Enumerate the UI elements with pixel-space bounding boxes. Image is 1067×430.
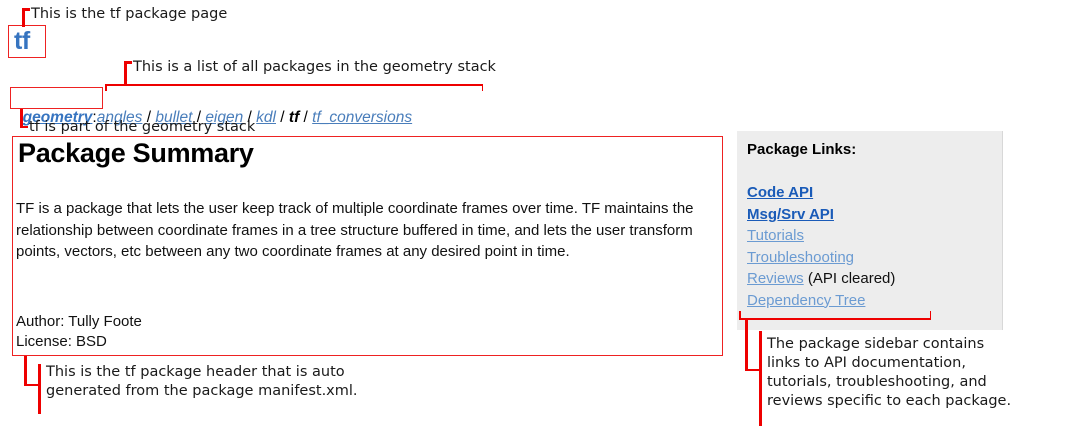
- callout-line-logo-vertical: [22, 8, 25, 27]
- annotation-header-line2: generated from the package manifest.xml.: [46, 382, 358, 401]
- callout-bracket-packages-horizontal: [105, 84, 483, 86]
- annotation-sidebar-line4: reviews specific to each package.: [767, 392, 1011, 411]
- callout-bracket-packages-right-tick: [482, 84, 484, 91]
- callout-line-header-vertical-b: [38, 364, 41, 414]
- sidebar-title: Package Links:: [747, 141, 856, 158]
- annotation-stack: tf is part of the geometry stack: [29, 118, 255, 137]
- annotation-sidebar-line1: The package sidebar contains: [767, 335, 984, 354]
- package-link-tf_conversions[interactable]: tf_conversions: [312, 109, 412, 126]
- callout-line-sidebar-vertical-a: [745, 319, 748, 371]
- sidebar-link-row: Troubleshooting: [747, 247, 895, 269]
- sidebar-link-note: (API cleared): [804, 270, 896, 287]
- callout-bracket-sidebar-horizontal: [739, 318, 931, 320]
- sidebar-link-row: Reviews (API cleared): [747, 268, 895, 290]
- sidebar-link-row: Tutorials: [747, 225, 895, 247]
- sidebar-link-list: Code APIMsg/Srv APITutorialsTroubleshoot…: [747, 182, 895, 311]
- callout-line-stack-stub: [20, 126, 28, 129]
- package-separator: /: [299, 109, 312, 126]
- annotation-package-list: This is a list of all packages in the ge…: [133, 58, 496, 77]
- callout-bracket-packages-left-tick: [105, 84, 107, 91]
- package-link-kdl[interactable]: kdl: [256, 109, 276, 126]
- callout-box-geometry: [10, 87, 103, 109]
- callout-line-packages-vertical: [124, 61, 127, 85]
- annotation-sidebar-line2: links to API documentation,: [767, 354, 966, 373]
- sidebar-link-msg-srv-api[interactable]: Msg/Srv API: [747, 206, 834, 223]
- callout-line-packages-stub: [124, 61, 132, 64]
- callout-line-logo-stub: [22, 8, 30, 11]
- sidebar-link-row: Msg/Srv API: [747, 204, 895, 226]
- sidebar-link-row: Dependency Tree: [747, 290, 895, 312]
- callout-line-sidebar-vertical-b: [759, 331, 762, 426]
- callout-bracket-sidebar-left-tick: [739, 311, 741, 319]
- annotation-header-line1: This is the tf package header that is au…: [46, 363, 345, 382]
- sidebar-link-troubleshooting[interactable]: Troubleshooting: [747, 249, 854, 266]
- callout-box-logo: [8, 25, 46, 58]
- sidebar-link-dependency-tree[interactable]: Dependency Tree: [747, 292, 865, 309]
- package-links-sidebar: Package Links: Code APIMsg/Srv APITutori…: [737, 131, 1003, 330]
- sidebar-link-row: Code API: [747, 182, 895, 204]
- sidebar-link-code-api[interactable]: Code API: [747, 184, 813, 201]
- annotation-sidebar-line3: tutorials, troubleshooting, and: [767, 373, 987, 392]
- sidebar-link-tutorials[interactable]: Tutorials: [747, 227, 804, 244]
- callout-box-package-header: [12, 136, 723, 356]
- callout-line-header-vertical-a: [24, 356, 27, 386]
- sidebar-link-reviews[interactable]: Reviews: [747, 270, 804, 287]
- package-separator: /: [276, 109, 289, 126]
- package-link-tf: tf: [289, 109, 299, 126]
- annotation-logo: This is the tf package page: [31, 5, 227, 24]
- callout-bracket-sidebar-right-tick: [930, 311, 932, 319]
